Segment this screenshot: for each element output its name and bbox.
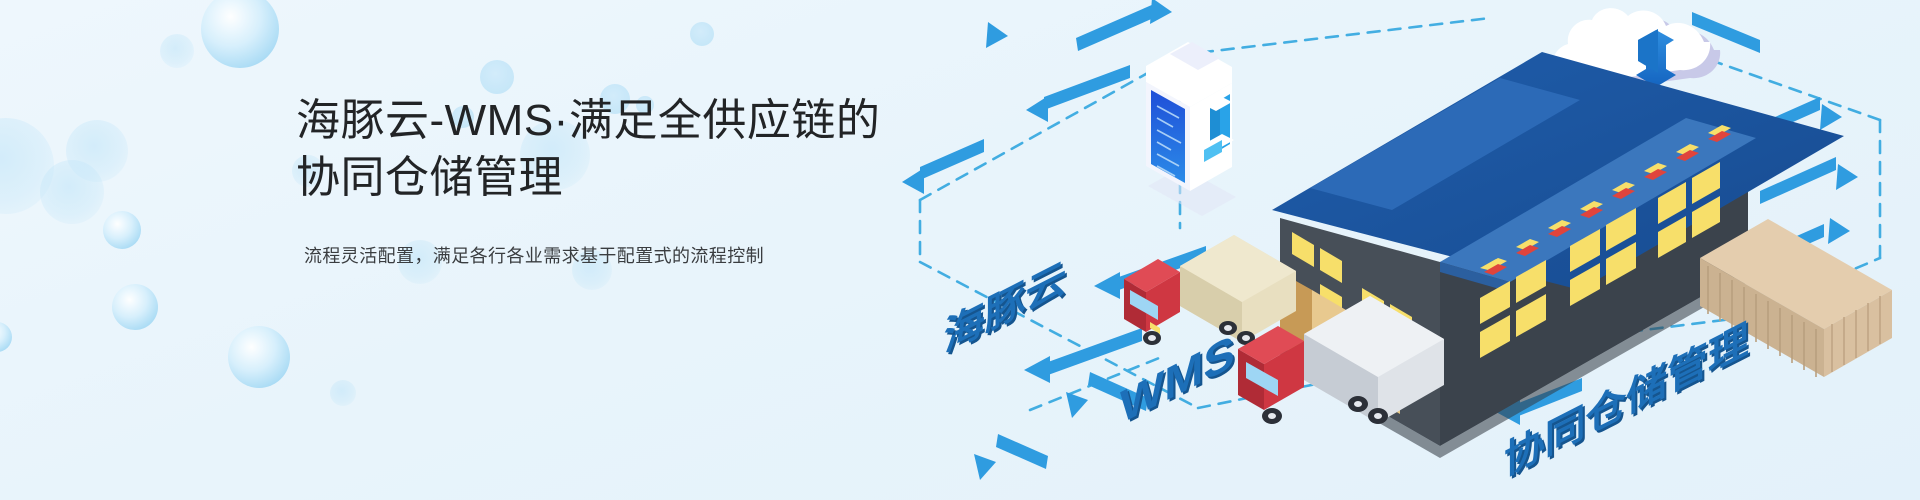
label-haitunyun-text: 海豚云 (944, 254, 1066, 361)
delivery-truck (1124, 235, 1296, 345)
flow-arrow (974, 434, 1048, 480)
bubble-decoration (201, 0, 279, 68)
bubble-decoration (228, 326, 290, 388)
flow-arrow (1026, 65, 1130, 122)
bubble-decoration (330, 380, 356, 406)
server-kiosk-icon (1146, 42, 1236, 216)
warehouse-illustration: 海豚云 海豚云 WMS WMS 协同仓储管理 协同仓储管理 (880, 0, 1920, 500)
bubble-decoration (0, 322, 12, 352)
bubble-decoration (103, 211, 141, 249)
flow-arrow (1076, 0, 1172, 51)
bubble-decoration (40, 160, 104, 224)
bubble-decoration (480, 60, 514, 94)
hero-banner: 海豚云-WMS·满足全供应链的 协同仓储管理 流程灵活配置，满足各行各业需求基于… (0, 0, 1920, 500)
bubble-decoration (66, 120, 128, 182)
bubble-decoration (160, 34, 194, 68)
bubble-decoration (690, 22, 714, 46)
bubble-decoration (112, 284, 158, 330)
label-haitunyun: 海豚云 海豚云 (944, 253, 1068, 364)
bubble-decoration (0, 118, 54, 214)
flow-arrow (1024, 328, 1142, 383)
